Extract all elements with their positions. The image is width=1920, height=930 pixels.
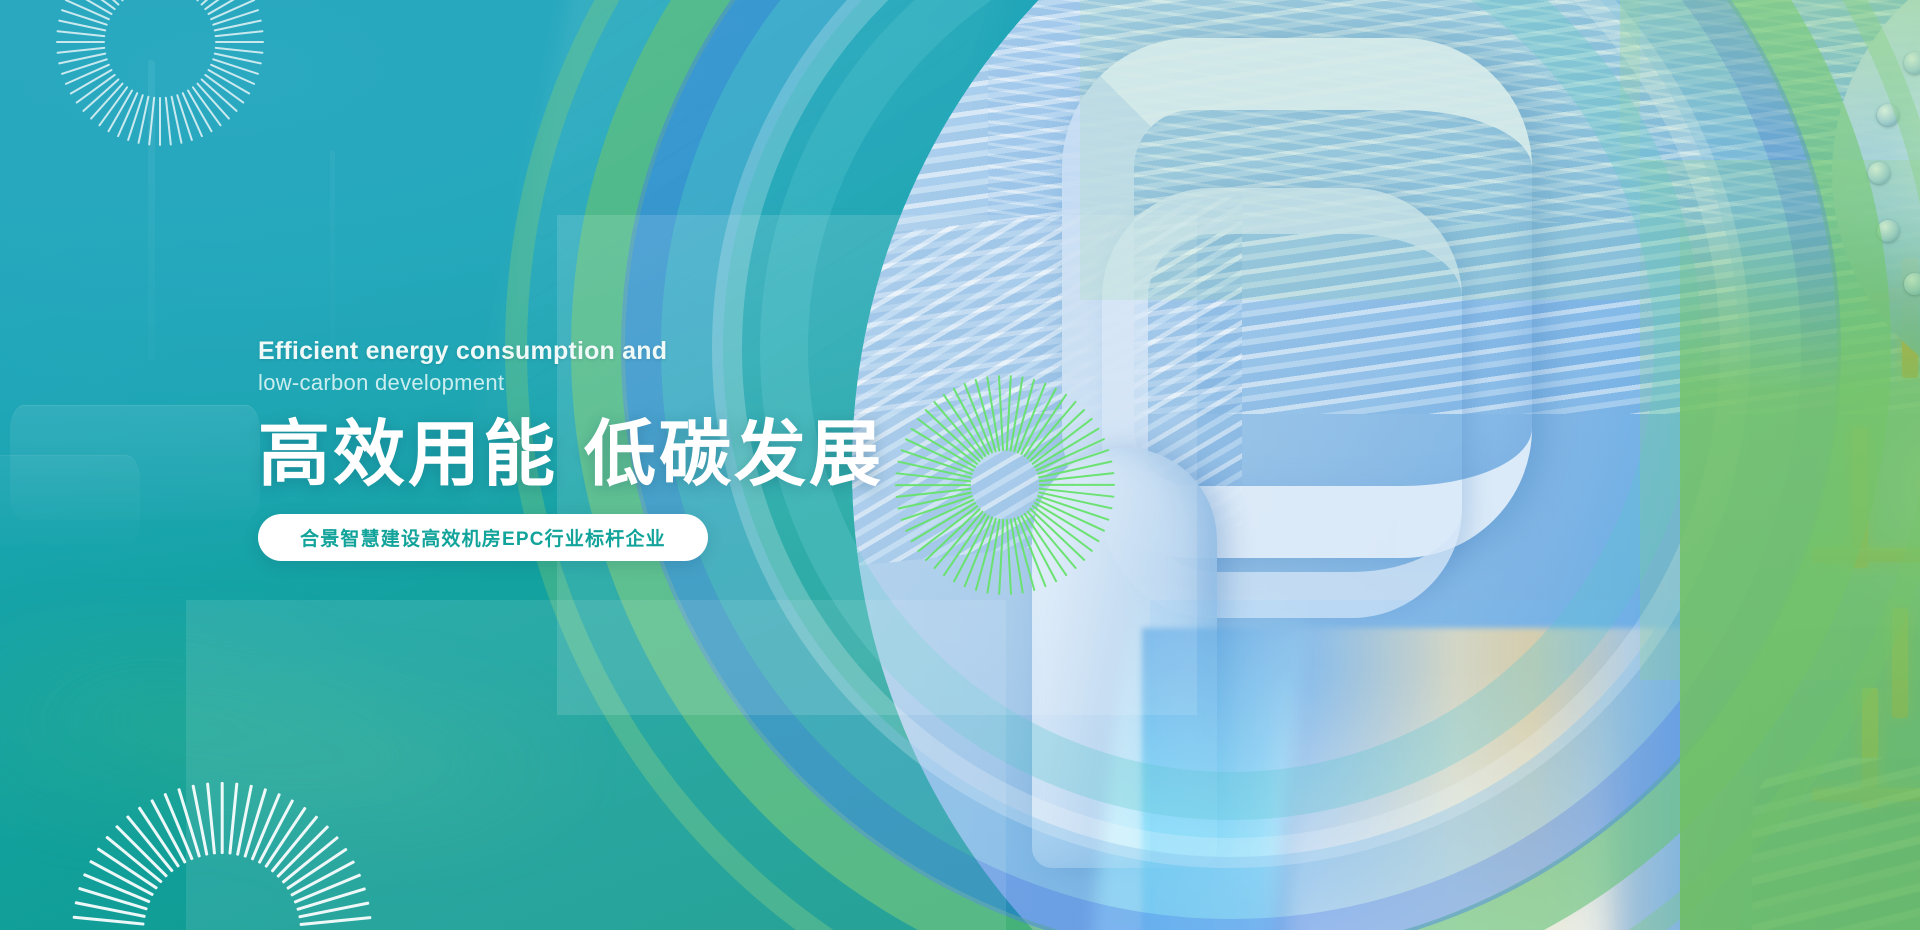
sunburst-ray (90, 0, 124, 2)
hero-copy-block: Efficient energy consumption and low-car… (258, 336, 1018, 561)
sunburst-ray (127, 94, 144, 141)
sunburst-ray (170, 96, 182, 144)
photo-flange-bolt (1904, 52, 1920, 74)
ghost-wind-turbine-pole (148, 60, 155, 360)
photo-large-flange (1832, 0, 1920, 408)
sunburst-ray (69, 69, 112, 95)
sunburst-ray (90, 82, 124, 120)
sunburst-ray (299, 916, 371, 926)
chinese-heading: 高效用能低碳发展 (258, 412, 1018, 498)
sunburst-ray (83, 873, 151, 903)
sunburst-ray (107, 89, 133, 132)
sunburst-ray (206, 783, 216, 855)
sunburst-ray (176, 94, 193, 141)
sunburst-ray (159, 97, 161, 146)
sunburst-ray (181, 92, 203, 138)
ghost-equipment-drum-2 (0, 455, 140, 545)
sunburst-ray (215, 41, 264, 43)
sunburst-ray (177, 788, 200, 858)
sunburst-ray (221, 782, 224, 854)
sunburst-ray (196, 0, 230, 2)
ghost-wind-turbine-pole-2 (330, 150, 335, 360)
photo-flange-bolt (1868, 162, 1890, 184)
sunburst-ray (75, 901, 146, 918)
sunburst-ray (56, 47, 105, 54)
sunburst-ray (58, 52, 106, 64)
photo-orange-valve (1852, 428, 1868, 568)
sunburst-ray (56, 41, 105, 43)
sunburst-ray (117, 92, 139, 138)
photo-flange-bolts (1832, 0, 1920, 408)
sunburst-ray (200, 0, 238, 6)
sunburst-ray (192, 86, 222, 127)
sunburst-ray (258, 799, 294, 864)
sunburst-ray (165, 97, 172, 146)
sunburst-ray (163, 793, 193, 861)
tagline-pill-label: 合景智慧建设高效机房EPC行业标杆企业 (300, 524, 666, 551)
sunburst-ray (200, 78, 238, 112)
ghost-equipment-drum (10, 405, 260, 520)
sunburst-ray (276, 825, 329, 878)
sunburst-ray (281, 836, 338, 884)
photo-orange-valve (1812, 548, 1920, 562)
chinese-heading-part1: 高效用能 (258, 415, 558, 495)
sunburst-ray (214, 19, 262, 31)
sunburst-ray (251, 793, 281, 861)
sunburst-ray (58, 19, 106, 31)
sunburst-ray (65, 63, 111, 85)
hero-banner: Efficient energy consumption and low-car… (0, 0, 1920, 930)
sunburst-ray (228, 783, 238, 855)
sunburst-ray (82, 78, 120, 112)
sunburst-ray (290, 860, 355, 896)
sunburst-ray (89, 860, 154, 896)
english-heading-line1: Efficient energy consumption and (258, 336, 1018, 366)
sunburst-ray (126, 815, 174, 872)
photo-floor-glow (1282, 678, 1612, 930)
sunburst-ray (296, 887, 366, 910)
sunburst-ray (212, 9, 259, 26)
sunburst-ray (215, 47, 264, 54)
sunburst-ray (298, 901, 369, 918)
sunburst-ray (150, 799, 186, 864)
sunburst-ray (286, 848, 347, 890)
sunburst-ray (105, 836, 162, 884)
sunburst-ray (61, 58, 108, 75)
sunburst-ray (207, 69, 250, 95)
sunburst-ray (115, 825, 168, 878)
sunburst-ray (212, 58, 259, 75)
sunburst-ray (210, 0, 256, 21)
sunburst-ray (73, 916, 145, 926)
sunburst-top-left (56, 0, 264, 146)
sunburst-ray (97, 848, 158, 890)
sunburst-ray (69, 0, 112, 15)
photo-flange-bolt (1877, 104, 1899, 126)
tagline-pill[interactable]: 合景智慧建设高效机房EPC行业标杆企业 (258, 514, 708, 561)
sunburst-ray (78, 887, 148, 910)
ghost-green-field (0, 600, 600, 900)
sunburst-ray (75, 0, 116, 10)
sunburst-bottom-left (72, 782, 372, 930)
sunburst-ray (82, 0, 120, 6)
photo-flange-bolt (1904, 273, 1920, 295)
english-heading-line2: low-carbon development (258, 368, 1018, 398)
sunburst-ray (138, 807, 180, 868)
sunburst-ray (61, 9, 108, 26)
sunburst-ray (215, 30, 264, 37)
sunburst-ray (210, 63, 256, 85)
sunburst-ray (75, 74, 116, 104)
photo-pipe-row (1752, 758, 1920, 930)
sunburst-ray (148, 97, 155, 146)
photo-flange-bolt (1877, 220, 1899, 242)
sunburst-ray (270, 815, 318, 872)
sunburst-ray (207, 0, 250, 15)
sunburst-ray (191, 785, 208, 856)
sunburst-ray (264, 807, 306, 868)
sunburst-ray (137, 96, 149, 144)
sunburst-ray (294, 873, 362, 903)
sunburst-ray (196, 82, 230, 120)
sunburst-ray (243, 788, 266, 858)
sunburst-ray (187, 89, 213, 132)
sunburst-ray (98, 86, 128, 127)
sunburst-ray (214, 52, 262, 64)
sunburst-ray (56, 30, 105, 37)
sunburst-ray (204, 0, 245, 10)
photo-orange-valve (1892, 608, 1908, 718)
sunburst-ray (204, 74, 245, 104)
sunburst-ray (236, 785, 253, 856)
sunburst-ray (65, 0, 111, 21)
chinese-heading-part2: 低碳发展 (584, 415, 884, 495)
